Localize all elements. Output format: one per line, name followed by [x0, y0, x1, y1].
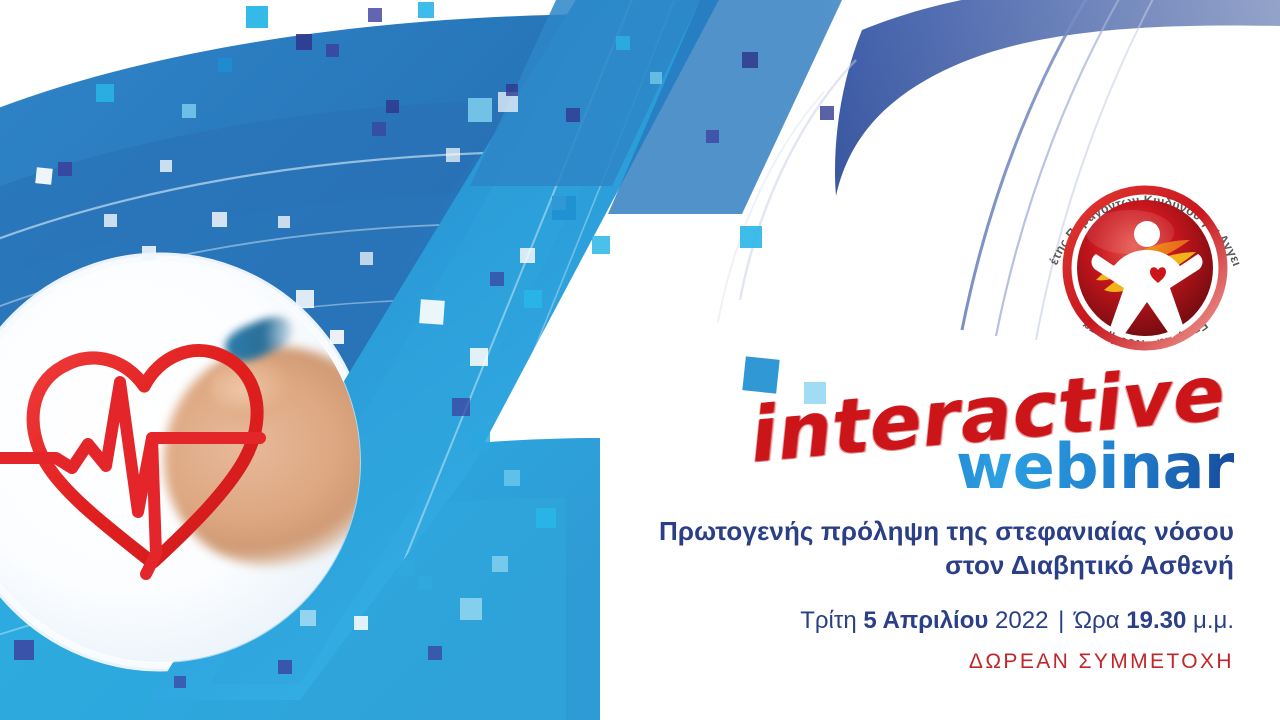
drawn-heart-ecg-icon — [0, 262, 360, 662]
schedule-line: Τρίτη 5 Απριλίου 2022 | Ώρα 19.30 μ.μ. — [614, 605, 1234, 636]
free-participation-label: ΔΩΡΕΑΝ ΣΥΜΜΕΤΟΧΗ — [614, 650, 1234, 674]
wave-band-deep — [0, 400, 278, 716]
webinar-banner: Μελέτης Παραγόντων Κινδύνου για Αγγειακά… — [0, 0, 1280, 720]
mosaic-block-upper-right — [470, 0, 842, 214]
wave-band-upper — [0, 14, 600, 640]
wave-band-cyan — [0, 438, 600, 720]
schedule-time-label: Ώρα — [1074, 607, 1120, 634]
talk-title-line-2: στον Διαβητικό Ασθενή — [614, 548, 1234, 582]
hand-shape — [164, 346, 360, 566]
fingertip-shape — [210, 358, 290, 420]
schedule-year: 2022 — [995, 607, 1048, 634]
schedule-weekday: Τρίτη — [800, 607, 856, 634]
marker-pen-shape — [220, 310, 298, 368]
schedule-time: 19.30 — [1126, 607, 1186, 634]
disc-white-frame — [0, 254, 368, 670]
heart-photo — [0, 262, 360, 662]
schedule-date: 5 Απριλίου — [863, 607, 988, 634]
organization-logo[interactable]: Μελέτης Παραγόντων Κινδύνου για Αγγειακά… — [1038, 156, 1252, 370]
talk-title-line-1: Πρωτογενής πρόληψη της στεφανιαίας νόσου — [614, 514, 1234, 548]
logo-svg: Μελέτης Παραγόντων Κινδύνου για Αγγειακά… — [1038, 156, 1252, 370]
schedule-period: μ.μ. — [1193, 607, 1234, 634]
schedule-separator: | — [1055, 607, 1067, 634]
event-text-block: interactive webinar Πρωτογενής πρόληψη τ… — [614, 368, 1234, 674]
talk-title: Πρωτογενής πρόληψη της στεφανιαίας νόσου… — [614, 514, 1234, 583]
